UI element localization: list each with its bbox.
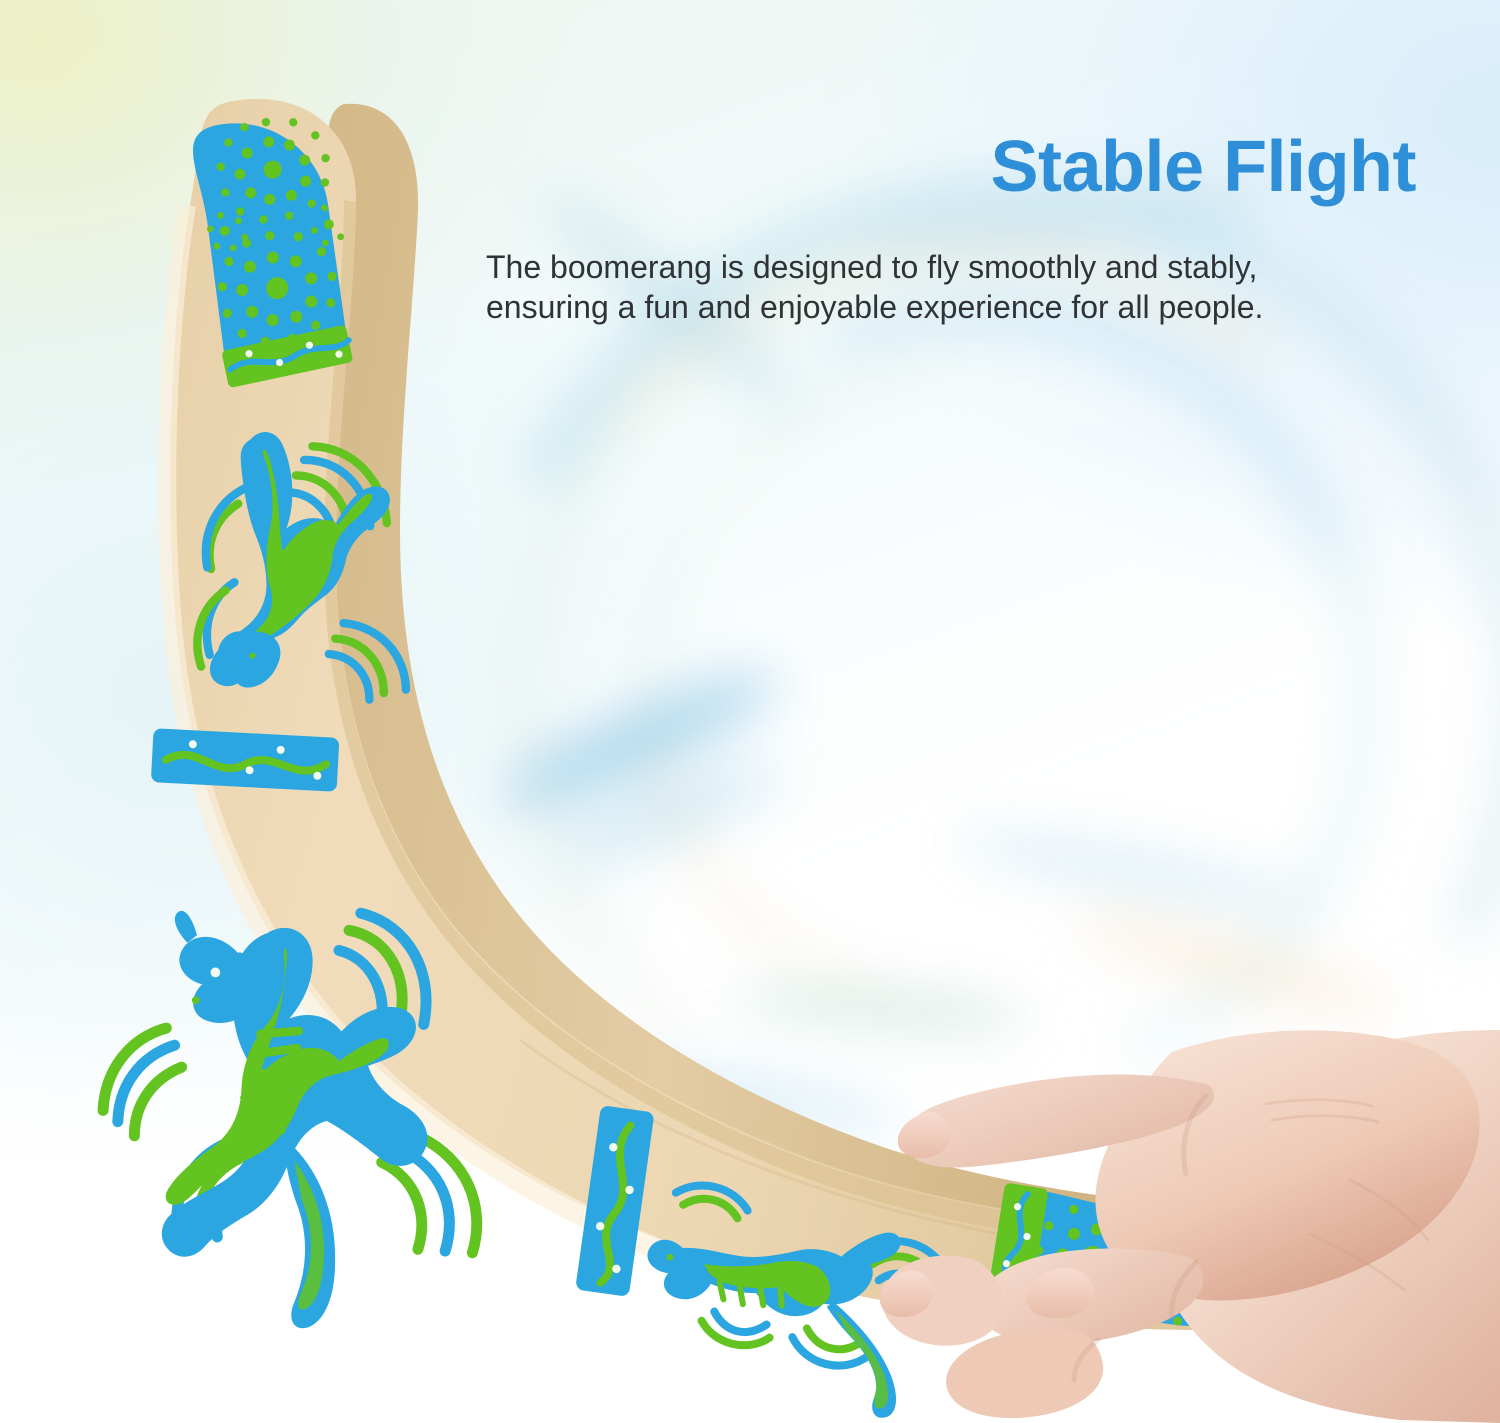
page-subtitle-line-1: The boomerang is designed to fly smoothl… [486, 247, 1416, 287]
index-fingernail [898, 1112, 950, 1158]
product-feature-image: Stable Flight The boomerang is designed … [0, 0, 1500, 1423]
page-title: Stable Flight [991, 131, 1417, 203]
page-subtitle: The boomerang is designed to fly smoothl… [486, 247, 1416, 328]
hand-illustration [0, 0, 1500, 1423]
page-subtitle-line-2: ensuring a fun and enjoyable experience … [486, 287, 1416, 327]
